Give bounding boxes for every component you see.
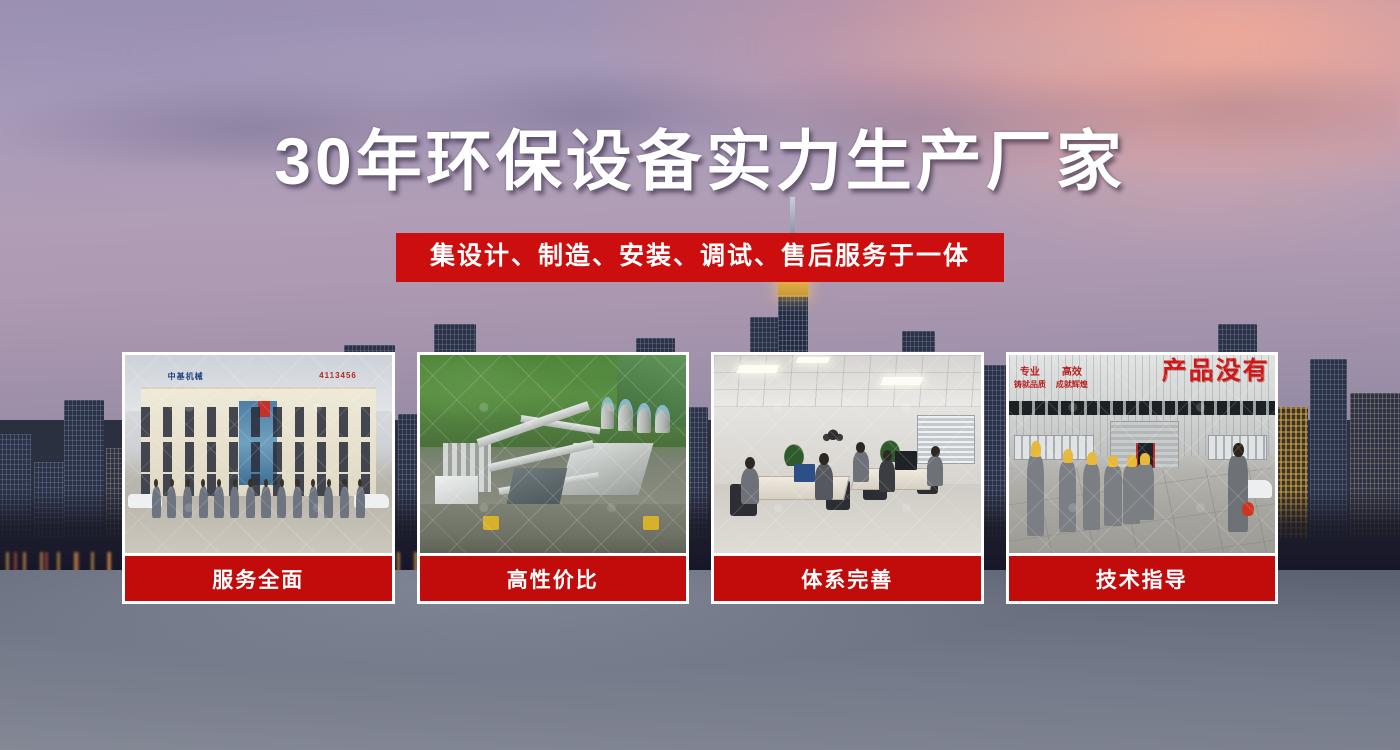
factory-yard-workers-photo: 产品没有 专业铸就品质 高效成就辉煌 — [1009, 355, 1276, 556]
feature-card-service[interactable]: 中基机械 4113456 服务全面 — [122, 352, 395, 604]
instructor-figure — [1228, 456, 1248, 532]
feature-card-value[interactable]: 高性价比 — [417, 352, 690, 604]
factory-wall-sign: 产品没有 — [1162, 359, 1270, 384]
wall-decal — [813, 415, 853, 447]
staff-lineup — [152, 486, 365, 518]
feature-card-caption: 服务全面 — [125, 556, 392, 601]
hero-banner: 30年环保设备实力生产厂家 集设计、制造、安装、调试、售后服务于一体 中基机械 … — [0, 0, 1400, 750]
red-helmet — [1242, 502, 1254, 516]
building-signage-text: 中基机械 — [168, 371, 204, 382]
feature-card-caption: 体系完善 — [714, 556, 981, 601]
factory-wall-slogans: 专业铸就品质 高效成就辉煌 — [1014, 367, 1088, 390]
building-phone-number: 4113456 — [319, 371, 357, 380]
feature-card-caption: 高性价比 — [420, 556, 687, 601]
office-interior-staff-photo — [714, 355, 981, 556]
company-headquarters-building-photo: 中基机械 4113456 — [125, 355, 392, 556]
window-blinds — [917, 415, 976, 463]
page-title: 30年环保设备实力生产厂家 — [0, 128, 1400, 194]
feature-card-guidance[interactable]: 产品没有 专业铸就品质 高效成就辉煌 — [1006, 352, 1279, 604]
feature-card-list: 中基机械 4113456 服务全面 — [122, 352, 1278, 604]
subtitle-banner: 集设计、制造、安装、调试、售后服务于一体 — [396, 233, 1004, 282]
aerial-production-plant-photo — [420, 355, 687, 556]
feature-card-caption: 技术指导 — [1009, 556, 1276, 601]
feature-card-system[interactable]: 体系完善 — [711, 352, 984, 604]
